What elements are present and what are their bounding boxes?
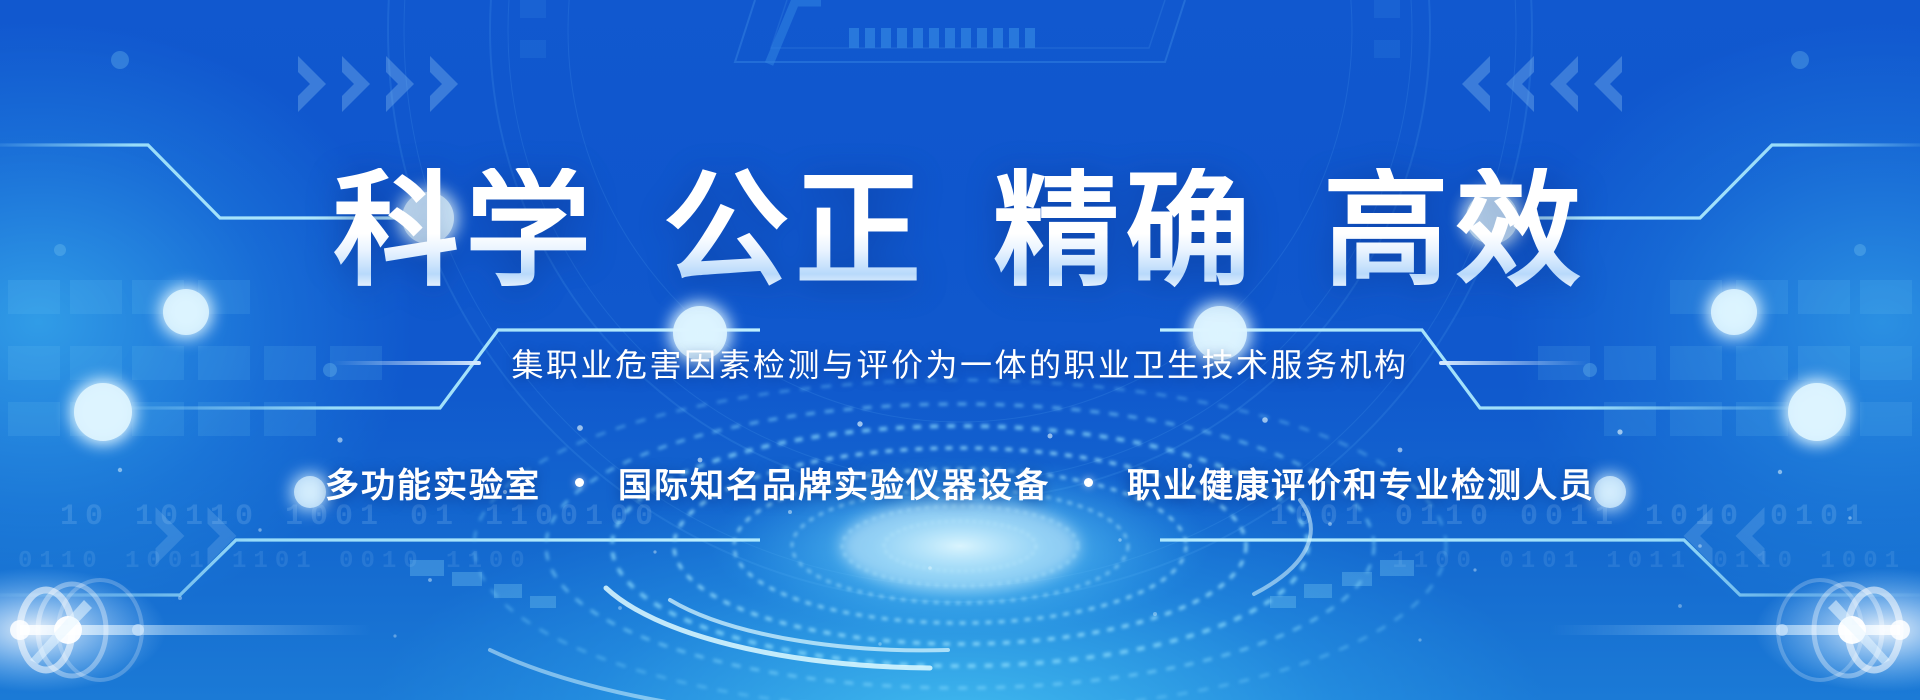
feature-item-2: 国际知名品牌实验仪器设备 xyxy=(618,458,1050,507)
hero-banner: 10 10110 1001 01 1100100 0110 1001 1101 … xyxy=(0,0,1920,700)
feature-item-1: 多功能实验室 xyxy=(325,458,541,507)
divider-line-left xyxy=(333,361,481,365)
page-title: 科学 公正 精确 高效 xyxy=(333,168,1587,294)
subtitle-row: 集职业危害因素检测与评价为一体的职业卫生技术服务机构 xyxy=(333,340,1586,386)
headline-word-3: 精确 xyxy=(993,168,1257,294)
headline-word-2: 公正 xyxy=(663,168,927,294)
feature-item-3: 职业健康评价和专业检测人员 xyxy=(1127,458,1595,507)
divider-line-right xyxy=(1439,361,1587,365)
banner-subtitle: 集职业危害因素检测与评价为一体的职业卫生技术服务机构 xyxy=(511,340,1408,386)
headline-word-4: 高效 xyxy=(1323,168,1587,294)
feature-list: 多功能实验室 国际知名品牌实验仪器设备 职业健康评价和专业检测人员 xyxy=(325,458,1595,507)
headline-word-1: 科学 xyxy=(333,168,597,294)
bullet-dot-icon xyxy=(1084,478,1093,487)
banner-content: 科学 公正 精确 高效 集职业危害因素检测与评价为一体的职业卫生技术服务机构 多… xyxy=(0,0,1920,700)
bullet-dot-icon xyxy=(575,478,584,487)
